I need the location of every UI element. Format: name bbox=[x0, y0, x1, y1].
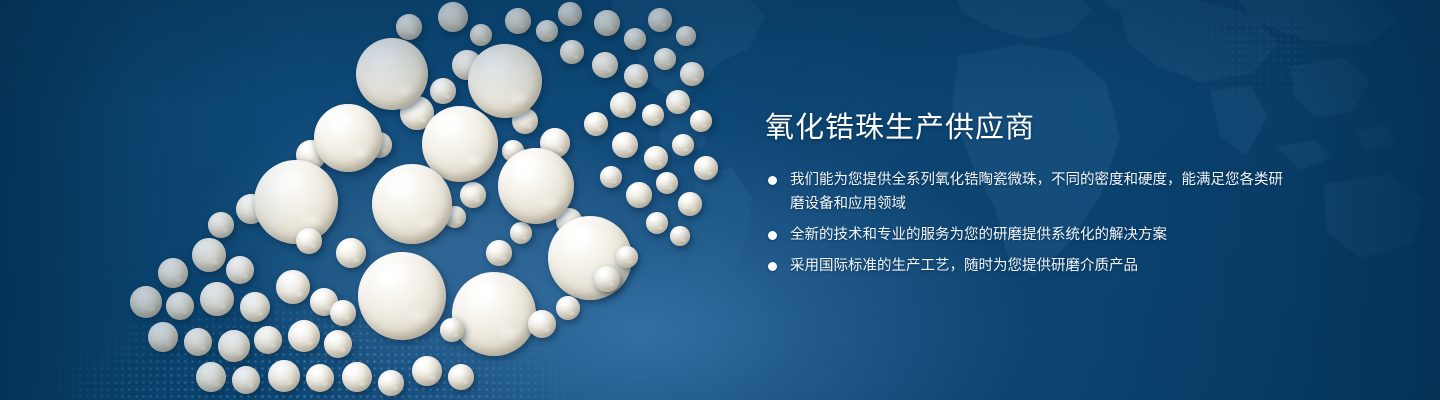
banner-content: 氧化锆珠生产供应商 我们能为您提供全系列氧化锆陶瓷微珠，不同的密度和硬度，能满足… bbox=[765, 110, 1285, 285]
list-item: 采用国际标准的生产工艺，随时为您提供研磨介质产品 bbox=[765, 254, 1285, 278]
bullet-text: 全新的技术和专业的服务为您的研磨提供系统化的解决方案 bbox=[790, 223, 1285, 247]
bullet-dot-icon bbox=[768, 176, 777, 185]
zirconia-beads-image bbox=[0, 0, 760, 400]
bullet-dot-icon bbox=[768, 231, 777, 240]
bullet-dot-icon bbox=[768, 262, 777, 271]
bullet-text: 采用国际标准的生产工艺，随时为您提供研磨介质产品 bbox=[790, 254, 1285, 278]
hero-banner: 氧化锆珠生产供应商 我们能为您提供全系列氧化锆陶瓷微珠，不同的密度和硬度，能满足… bbox=[0, 0, 1440, 400]
bullet-text: 我们能为您提供全系列氧化锆陶瓷微珠，不同的密度和硬度，能满足您各类研磨设备和应用… bbox=[790, 168, 1285, 216]
list-item: 我们能为您提供全系列氧化锆陶瓷微珠，不同的密度和硬度，能满足您各类研磨设备和应用… bbox=[765, 168, 1285, 216]
feature-bullet-list: 我们能为您提供全系列氧化锆陶瓷微珠，不同的密度和硬度，能满足您各类研磨设备和应用… bbox=[765, 168, 1285, 278]
list-item: 全新的技术和专业的服务为您的研磨提供系统化的解决方案 bbox=[765, 223, 1285, 247]
banner-headline: 氧化锆珠生产供应商 bbox=[765, 110, 1285, 146]
